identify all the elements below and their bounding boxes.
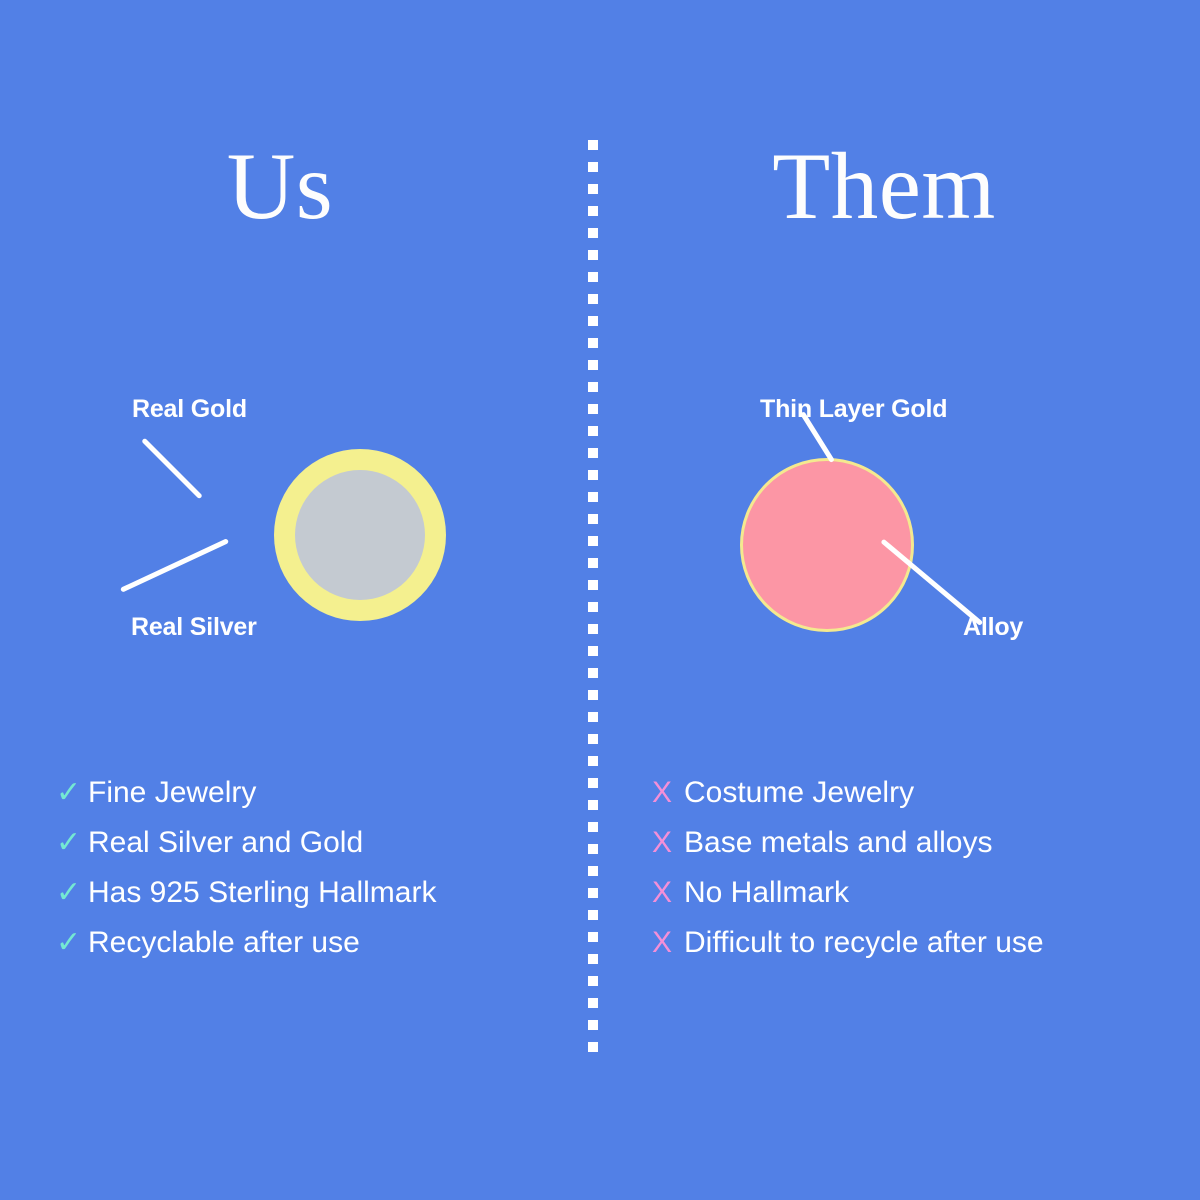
check-icon: ✓ <box>56 768 88 818</box>
silver-core-shape <box>295 470 425 600</box>
feature-label: Difficult to recycle after use <box>684 918 1044 968</box>
list-item: Χ Costume Jewelry <box>652 768 1172 818</box>
leader-line-real-gold <box>141 438 203 500</box>
cross-icon: Χ <box>652 918 684 968</box>
column-us: Us Real Gold Real Silver ✓ Fine Jewelry … <box>0 0 588 1200</box>
list-item: ✓ Has 925 Sterling Hallmark <box>56 868 576 918</box>
check-icon: ✓ <box>56 868 88 918</box>
list-item: Χ Base metals and alloys <box>652 818 1172 868</box>
cross-icon: Χ <box>652 818 684 868</box>
list-item: ✓ Real Silver and Gold <box>56 818 576 868</box>
gold-ring-shape <box>274 449 446 621</box>
heading-them: Them <box>590 131 1178 241</box>
diagram-plated-alloy: Thin Layer Gold Alloy <box>612 370 1200 670</box>
label-thin-layer-gold: Thin Layer Gold <box>760 395 947 424</box>
feature-label: Costume Jewelry <box>684 768 914 818</box>
label-real-gold: Real Gold <box>132 395 247 424</box>
heading-us: Us <box>0 131 574 241</box>
leader-line-real-silver <box>120 538 229 592</box>
feature-label: Base metals and alloys <box>684 818 993 868</box>
cross-icon: Χ <box>652 768 684 818</box>
feature-list-us: ✓ Fine Jewelry ✓ Real Silver and Gold ✓ … <box>56 768 576 968</box>
dotted-divider <box>588 140 598 1052</box>
feature-label: Real Silver and Gold <box>88 818 363 868</box>
label-alloy: Alloy <box>963 613 1023 642</box>
list-item: ✓ Recyclable after use <box>56 918 576 968</box>
list-item: ✓ Fine Jewelry <box>56 768 576 818</box>
diagram-real-gold-silver: Real Gold Real Silver <box>0 370 588 670</box>
list-item: Χ No Hallmark <box>652 868 1172 918</box>
list-item: Χ Difficult to recycle after use <box>652 918 1172 968</box>
column-them: Them Thin Layer Gold Alloy Χ Costume Jew… <box>612 0 1200 1200</box>
check-icon: ✓ <box>56 818 88 868</box>
feature-label: Has 925 Sterling Hallmark <box>88 868 436 918</box>
feature-list-them: Χ Costume Jewelry Χ Base metals and allo… <box>652 768 1172 968</box>
feature-label: No Hallmark <box>684 868 849 918</box>
label-real-silver: Real Silver <box>131 613 257 642</box>
feature-label: Fine Jewelry <box>88 768 256 818</box>
cross-icon: Χ <box>652 868 684 918</box>
comparison-infographic: Us Real Gold Real Silver ✓ Fine Jewelry … <box>0 0 1200 1200</box>
check-icon: ✓ <box>56 918 88 968</box>
feature-label: Recyclable after use <box>88 918 360 968</box>
